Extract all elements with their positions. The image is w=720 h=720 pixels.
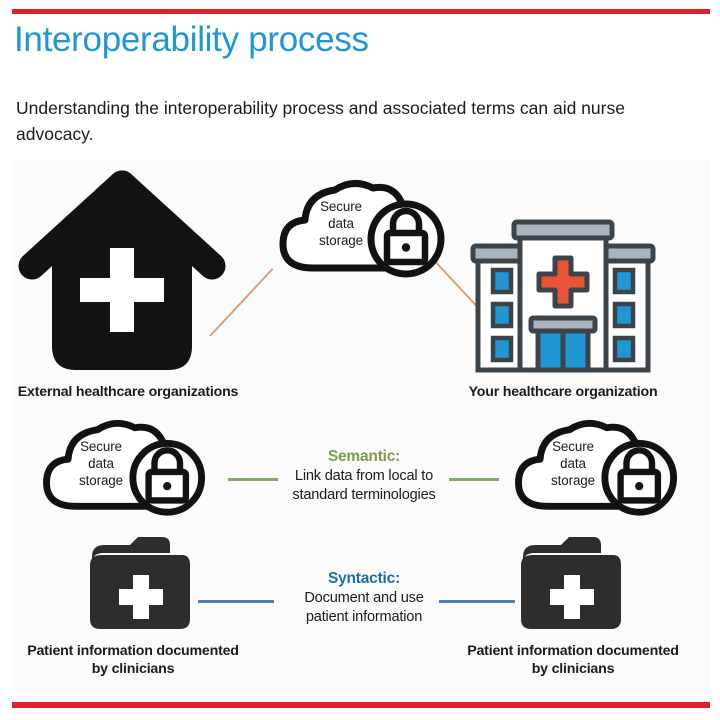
semantic-desc-line1: Link data from local to (249, 467, 479, 486)
your-org-icon-node (470, 218, 656, 378)
top-cloud-text: Secure data storage (295, 198, 387, 249)
folder-right-node (517, 535, 629, 635)
folder-right-caption-line2: by clinicians (532, 661, 615, 677)
syntactic-desc-line2: patient information (249, 608, 479, 627)
folder-right-caption-line1: Patient information documented (467, 643, 679, 659)
semantic-cloud-left-node: Secure data storage (27, 416, 227, 522)
top-red-rule (12, 9, 710, 14)
syntactic-desc-line1: Document and use (249, 589, 479, 608)
folder-left-caption-line2: by clinicians (92, 661, 175, 677)
bottom-red-rule (12, 702, 710, 708)
syntactic-label: Syntactic: Document and use patient info… (249, 570, 479, 627)
folder-right-caption: Patient information documented by clinic… (452, 642, 694, 678)
semantic-label: Semantic: Link data from local to standa… (249, 448, 479, 505)
folder-left-caption: Patient information documented by clinic… (12, 642, 254, 678)
semantic-cloud-right-text: Secure data storage (521, 438, 625, 489)
page-title: Interoperability process (14, 20, 369, 60)
house-with-medical-cross-icon (22, 170, 222, 378)
folder-with-medical-cross-icon (86, 535, 198, 635)
syntactic-kicker: Syntactic: (249, 570, 479, 588)
cloud-text-line2: data (328, 216, 354, 231)
cloud-text-line2: data (560, 456, 586, 471)
your-org-caption: Your healthcare organization (453, 383, 673, 401)
cloud-text-line3: storage (79, 473, 123, 488)
folder-with-medical-cross-icon (517, 535, 629, 635)
semantic-kicker: Semantic: (249, 448, 479, 466)
external-org-caption: External healthcare organizations (12, 383, 244, 401)
folder-left-caption-line1: Patient information documented (27, 643, 239, 659)
diagram-panel: External healthcare organizations Secure… (12, 160, 710, 692)
page-subtitle: Understanding the interoperability proce… (16, 95, 680, 147)
cloud-text-line1: Secure (552, 439, 594, 454)
semantic-cloud-left-text: Secure data storage (49, 438, 153, 489)
cloud-text-line3: storage (551, 473, 595, 488)
top-cloud-node: Secure data storage (275, 176, 455, 284)
cloud-text-line1: Secure (80, 439, 122, 454)
cloud-text-line3: storage (319, 233, 363, 248)
semantic-cloud-right-node: Secure data storage (499, 416, 699, 522)
semantic-desc-line2: standard terminologies (249, 486, 479, 505)
hospital-building-icon (470, 218, 656, 378)
external-org-icon-node (22, 170, 222, 378)
folder-left-node (86, 535, 198, 635)
infographic-page: Interoperability process Understanding t… (0, 0, 720, 720)
cloud-text-line1: Secure (320, 199, 362, 214)
cloud-text-line2: data (88, 456, 114, 471)
